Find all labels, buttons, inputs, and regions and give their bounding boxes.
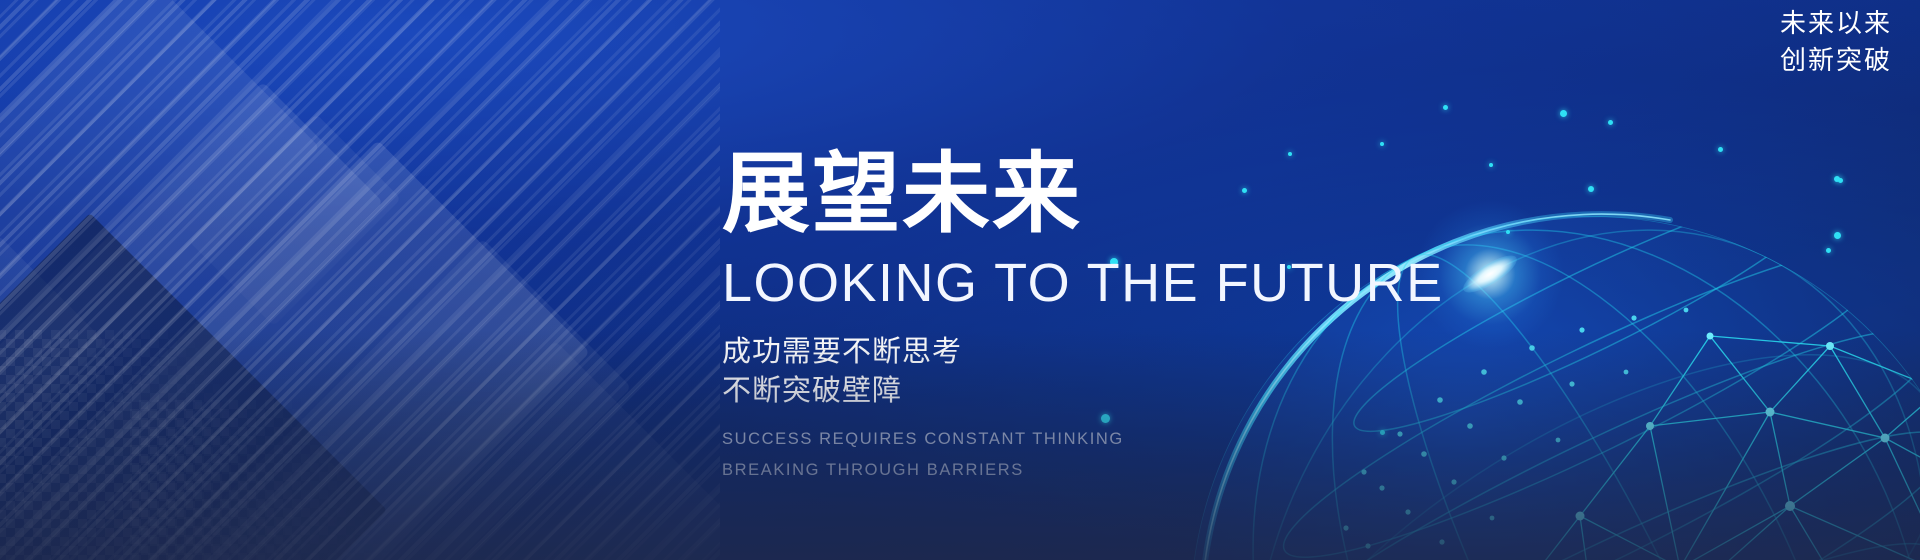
particle-dot <box>1443 105 1448 110</box>
tagline-cn: 成功需要不断思考 不断突破壁障 <box>722 332 1442 410</box>
particle-dot <box>1506 230 1510 234</box>
particle-dot <box>1588 186 1594 192</box>
particle-dot <box>1834 176 1840 182</box>
tagline-en: SUCCESS REQUIRES CONSTANT THINKING BREAK… <box>722 424 1442 485</box>
corner-slogan: 未来以来 创新突破 <box>1780 6 1892 80</box>
hero-copy-block: 展望未来 LOOKING TO THE FUTURE 成功需要不断思考 不断突破… <box>722 150 1442 485</box>
corner-slogan-line2: 创新突破 <box>1780 43 1892 80</box>
tagline-cn-line1: 成功需要不断思考 <box>722 332 1442 371</box>
particle-dot <box>1560 110 1567 117</box>
particle-dot <box>1489 163 1493 167</box>
particle-dot <box>1834 232 1841 239</box>
particle-dot <box>1380 142 1384 146</box>
particle-dot <box>1826 248 1831 253</box>
particle-dot <box>1608 120 1613 125</box>
page-subtitle-en: LOOKING TO THE FUTURE <box>722 256 1442 310</box>
hero-banner: 未来以来 创新突破 展望未来 LOOKING TO THE FUTURE 成功需… <box>0 0 1920 560</box>
page-title: 展望未来 <box>722 150 1442 238</box>
tagline-en-line1: SUCCESS REQUIRES CONSTANT THINKING <box>722 424 1442 455</box>
particle-dot <box>1718 147 1723 152</box>
tagline-cn-line2: 不断突破壁障 <box>722 371 1442 410</box>
tagline-en-line2: BREAKING THROUGH BARRIERS <box>722 455 1442 486</box>
corner-slogan-line1: 未来以来 <box>1780 6 1892 43</box>
